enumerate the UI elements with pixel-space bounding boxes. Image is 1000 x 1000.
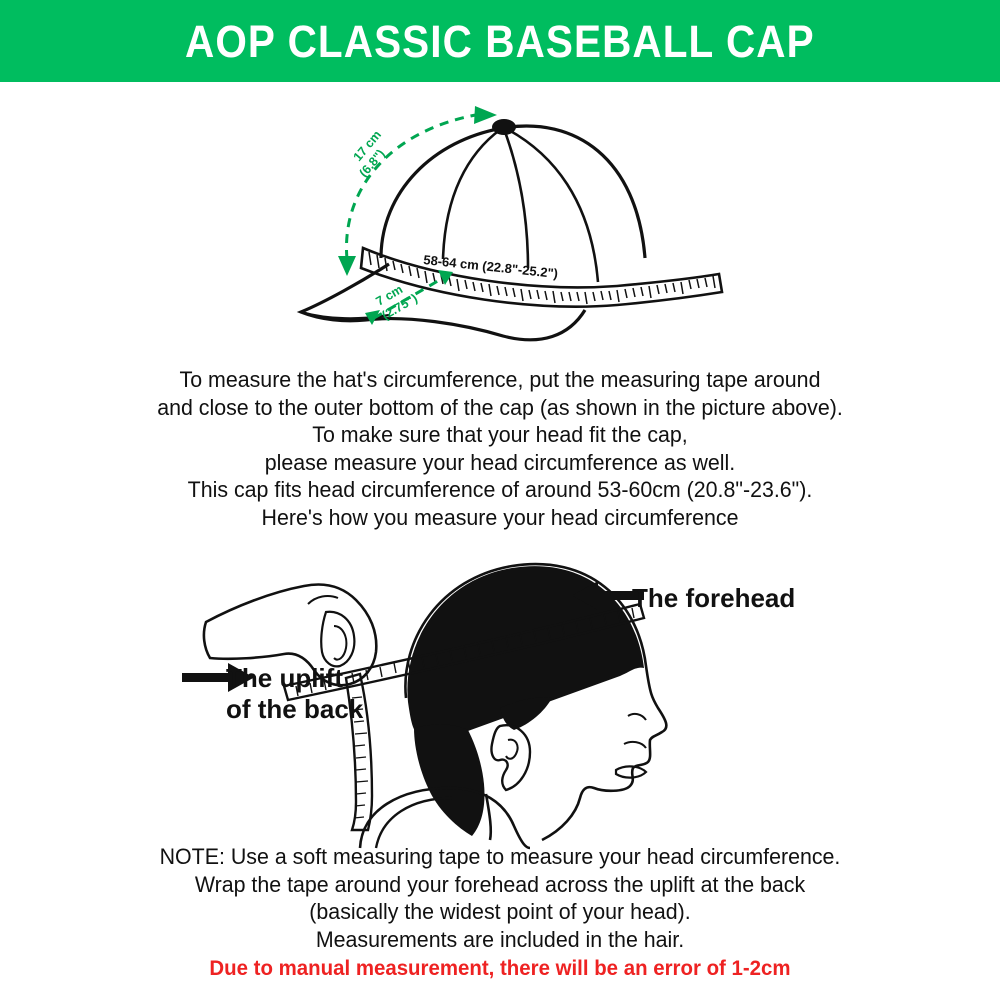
instruction-line: To make sure that your head fit the cap, [25,421,975,449]
manual-measurement-warning: Due to manual measurement, there will be… [25,953,975,983]
cap-seam-left [443,129,501,259]
uplift-callout-label: The uplift of the back [226,663,363,725]
crown-height-arrow-top [474,106,497,124]
note-line: Wrap the tape around your forehead acros… [25,871,975,899]
page-title: AOP CLASSIC BASEBALL CAP [185,19,815,64]
note-line: NOTE: Use a soft measuring tape to measu… [25,843,975,871]
hand-knuckle-detail [308,596,338,604]
forehead-callout-label: The forehead [632,583,795,614]
instruction-line: This cap fits head circumference of arou… [25,476,975,504]
instruction-line: To measure the hat's circumference, put … [25,366,975,394]
cap-diagram-svg: 58-64 cm (22.8"-25.2") 17 cm (6.8") 7 cm… [285,96,745,346]
cap-button-icon [492,119,516,135]
ear-inner-detail [506,740,518,759]
note-line: (basically the widest point of your head… [25,898,975,926]
note-line: Measurements are included in the hair. [25,926,975,954]
header-banner: AOP CLASSIC BASEBALL CAP [0,0,1000,82]
hand-thumb-detail [321,612,354,667]
size-chart-page: AOP CLASSIC BASEBALL CAP [0,0,1000,1000]
crown-height-arrow-bottom [338,256,356,276]
uplift-callout-line1: The uplift [226,663,363,694]
instruction-line: and close to the outer bottom of the cap… [25,394,975,422]
instruction-line: Here's how you measure your head circumf… [25,504,975,532]
eye-detail [628,714,646,720]
neck-outline [486,794,491,840]
cap-seam-right [507,129,598,282]
cap-crown-outline [381,126,645,258]
cap-seam-center [504,129,528,268]
hair-sideburn [414,725,485,837]
nostril-detail [624,742,646,748]
uplift-callout-line2: of the back [226,694,363,725]
cap-diagram: 58-64 cm (22.8"-25.2") 17 cm (6.8") 7 cm… [285,96,745,346]
instruction-line: please measure your head circumference a… [25,449,975,477]
instructions-block: To measure the hat's circumference, put … [0,366,1000,531]
note-block: NOTE: Use a soft measuring tape to measu… [0,843,1000,983]
hand-finger-detail [334,626,346,660]
ear-outline [491,725,530,790]
